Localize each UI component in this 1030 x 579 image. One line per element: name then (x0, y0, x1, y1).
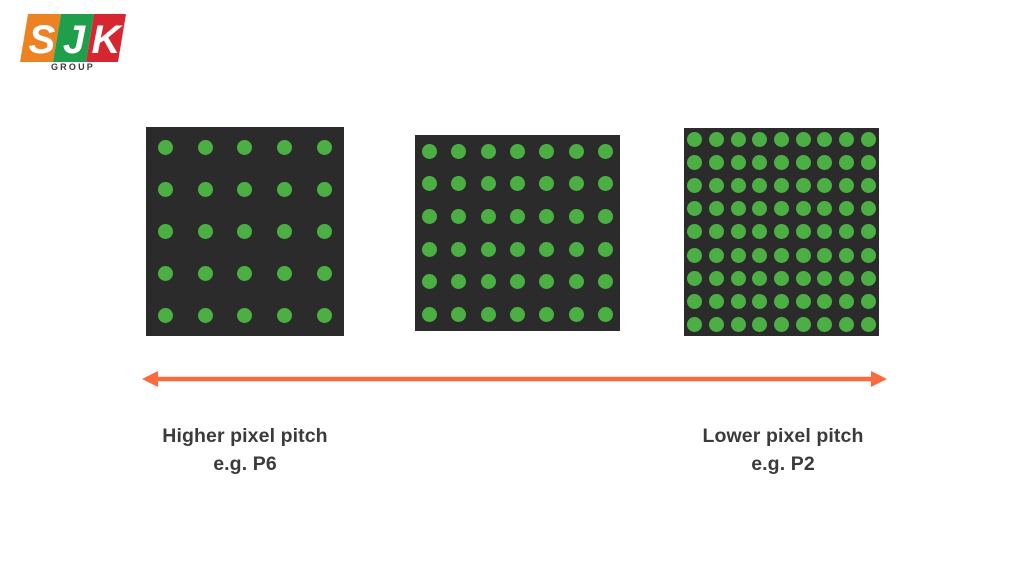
led-dot (539, 176, 554, 191)
led-dot (569, 176, 584, 191)
led-dot (510, 307, 525, 322)
double-arrow-icon (140, 366, 889, 392)
pixel-pitch-range-arrow (140, 366, 889, 392)
led-dot (539, 144, 554, 159)
led-dot (198, 224, 213, 239)
caption-lower-pitch-line1: Lower pixel pitch (703, 425, 864, 447)
led-dot (839, 201, 854, 216)
led-dot (198, 140, 213, 155)
led-dot (158, 224, 173, 239)
led-dot (817, 201, 832, 216)
led-dot (731, 317, 746, 332)
led-dot (774, 201, 789, 216)
led-dot (731, 271, 746, 286)
led-dot (839, 132, 854, 147)
led-dot (861, 294, 876, 309)
led-dot (598, 242, 613, 257)
caption-lower-pitch: Lower pixel pitch e.g. P2 (658, 422, 908, 479)
led-panel-medium (415, 135, 620, 331)
led-dot (237, 266, 252, 281)
led-dot (539, 209, 554, 224)
led-dot (237, 140, 252, 155)
led-dot (569, 209, 584, 224)
led-dot (451, 242, 466, 257)
led-dot (861, 248, 876, 263)
led-dot (752, 294, 767, 309)
led-dot (752, 224, 767, 239)
led-dot (539, 242, 554, 257)
led-panel-coarse (146, 127, 344, 336)
led-dot (861, 155, 876, 170)
led-dot (598, 274, 613, 289)
caption-higher-pitch: Higher pixel pitch e.g. P6 (120, 422, 370, 479)
led-dot (422, 307, 437, 322)
led-dot (277, 266, 292, 281)
svg-text:S: S (29, 18, 56, 62)
led-dot (709, 155, 724, 170)
led-dot (709, 294, 724, 309)
led-dot (317, 308, 332, 323)
caption-lower-pitch-line2: e.g. P2 (658, 450, 908, 478)
led-panel-fine (684, 128, 879, 336)
caption-higher-pitch-line1: Higher pixel pitch (162, 425, 327, 447)
led-dot (422, 209, 437, 224)
led-dot (752, 178, 767, 193)
led-dot (510, 144, 525, 159)
led-dot (839, 317, 854, 332)
led-dot (237, 182, 252, 197)
led-dot (796, 271, 811, 286)
svg-text:K: K (92, 18, 124, 62)
led-dot (709, 317, 724, 332)
led-dot (731, 294, 746, 309)
led-dot (451, 144, 466, 159)
svg-text:J: J (63, 18, 86, 62)
led-dot (752, 201, 767, 216)
led-dot (709, 132, 724, 147)
led-dot (731, 178, 746, 193)
logo-subtitle: GROUP (20, 62, 126, 72)
led-dot (687, 294, 702, 309)
led-dot (731, 155, 746, 170)
led-dot (481, 242, 496, 257)
led-dot (569, 307, 584, 322)
led-dot (731, 201, 746, 216)
led-dot (817, 248, 832, 263)
led-dot (796, 201, 811, 216)
led-dot (817, 271, 832, 286)
led-dot (687, 178, 702, 193)
led-dot (598, 144, 613, 159)
led-dot (752, 155, 767, 170)
led-dot (317, 140, 332, 155)
led-dot (598, 307, 613, 322)
led-dot (731, 248, 746, 263)
led-dot (774, 294, 789, 309)
led-dot (317, 224, 332, 239)
led-dot (709, 178, 724, 193)
led-dot (277, 140, 292, 155)
led-dot (774, 248, 789, 263)
led-dot (709, 224, 724, 239)
led-dot (481, 209, 496, 224)
sjk-group-logo: S J K GROUP (20, 12, 126, 74)
led-dot (198, 182, 213, 197)
led-dot (796, 224, 811, 239)
led-dot (451, 176, 466, 191)
led-dot (731, 132, 746, 147)
led-dot (709, 201, 724, 216)
led-dot (198, 266, 213, 281)
led-dot (687, 248, 702, 263)
led-dot (422, 242, 437, 257)
led-dot (817, 294, 832, 309)
led-dot (752, 271, 767, 286)
led-dot (158, 182, 173, 197)
led-dot (796, 155, 811, 170)
led-dot (510, 274, 525, 289)
led-dot (687, 224, 702, 239)
led-dot (158, 140, 173, 155)
led-dot (861, 224, 876, 239)
led-dot (687, 271, 702, 286)
led-dot (839, 155, 854, 170)
led-dot (539, 274, 554, 289)
led-dot (481, 274, 496, 289)
led-dot (237, 224, 252, 239)
led-dot (510, 209, 525, 224)
led-dot (839, 224, 854, 239)
led-dot (687, 132, 702, 147)
led-dot (451, 307, 466, 322)
led-dot (774, 317, 789, 332)
led-dot (817, 155, 832, 170)
led-dot (774, 178, 789, 193)
led-dot (774, 155, 789, 170)
led-dot (422, 144, 437, 159)
led-dot (277, 224, 292, 239)
led-dot (861, 132, 876, 147)
led-dot (481, 307, 496, 322)
led-dot (687, 155, 702, 170)
led-dot (861, 201, 876, 216)
led-dot (158, 266, 173, 281)
led-dot (839, 248, 854, 263)
led-dot (731, 224, 746, 239)
led-dot (569, 144, 584, 159)
led-dot (569, 242, 584, 257)
led-dot (481, 176, 496, 191)
caption-higher-pitch-line2: e.g. P6 (120, 450, 370, 478)
led-dot (451, 209, 466, 224)
led-dot (796, 294, 811, 309)
logo-mark-icon: S J K (20, 12, 126, 64)
led-dot (687, 317, 702, 332)
led-dot (774, 132, 789, 147)
led-dot (598, 176, 613, 191)
led-dot (569, 274, 584, 289)
led-dot (752, 248, 767, 263)
led-dot (796, 317, 811, 332)
led-dot (817, 317, 832, 332)
led-dot (422, 274, 437, 289)
led-dot (510, 242, 525, 257)
led-dot (752, 317, 767, 332)
led-dot (796, 132, 811, 147)
led-dot (687, 201, 702, 216)
led-dot (839, 271, 854, 286)
led-dot (817, 132, 832, 147)
led-dot (198, 308, 213, 323)
led-dot (709, 271, 724, 286)
led-dot (839, 294, 854, 309)
led-dot (774, 224, 789, 239)
led-dot (158, 308, 173, 323)
led-dot (796, 248, 811, 263)
led-dot (237, 308, 252, 323)
led-dot (861, 178, 876, 193)
led-dot (709, 248, 724, 263)
led-dot (796, 178, 811, 193)
led-dot (510, 176, 525, 191)
led-dot (422, 176, 437, 191)
led-dot (317, 182, 332, 197)
led-dot (774, 271, 789, 286)
led-dot (817, 224, 832, 239)
led-dot (451, 274, 466, 289)
led-dot (598, 209, 613, 224)
led-dot (839, 178, 854, 193)
led-dot (861, 317, 876, 332)
led-dot (861, 271, 876, 286)
led-dot (752, 132, 767, 147)
led-dot (817, 178, 832, 193)
led-dot (277, 308, 292, 323)
led-dot (317, 266, 332, 281)
led-dot (277, 182, 292, 197)
led-dot (539, 307, 554, 322)
slide-canvas: S J K GROUP Higher pixel pitch e.g. P6 L… (0, 0, 1030, 579)
led-dot (481, 144, 496, 159)
